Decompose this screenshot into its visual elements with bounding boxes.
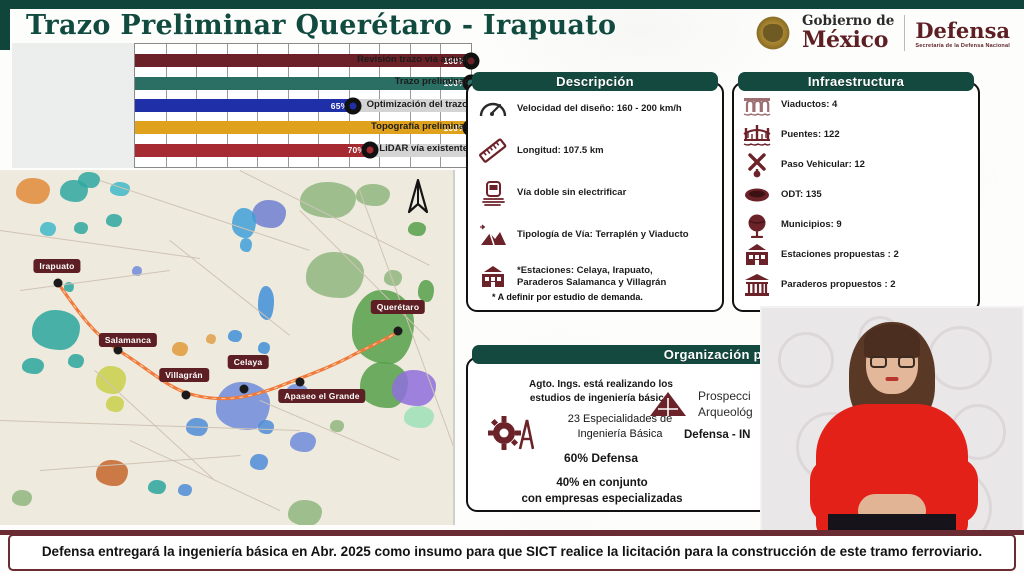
globe-icon bbox=[742, 212, 772, 238]
map-city-label[interactable]: Celaya bbox=[228, 355, 269, 369]
defensa-title: Defensa bbox=[915, 18, 1010, 43]
embankment-icon bbox=[478, 222, 508, 248]
chart-bar[interactable]: 70% bbox=[135, 144, 370, 157]
brand-line2: México bbox=[802, 29, 894, 51]
info-item: *Estaciones: Celaya, Irapuato,Paraderos … bbox=[478, 264, 718, 290]
bottom-banner-text: Defensa entregará la ingeniería básica e… bbox=[32, 544, 992, 561]
gobierno-mexico-logo: Gobierno de México Defensa Secretaría de… bbox=[754, 10, 1010, 56]
interpreter-glasses-left bbox=[870, 356, 887, 368]
compass-north-icon bbox=[405, 178, 431, 218]
map-city-dot bbox=[296, 378, 305, 387]
chart-label-column bbox=[12, 43, 134, 168]
map-city-label[interactable]: Apaseo el Grande bbox=[278, 389, 365, 403]
top-green-strip bbox=[0, 0, 1024, 9]
info-item: Municipios: 9 bbox=[742, 212, 974, 238]
route-map[interactable]: IrapuatoSalamancaVillagránCelayaApaseo e… bbox=[0, 170, 455, 525]
chart-category-label: Optimización del trazo bbox=[350, 99, 468, 110]
info-item-label: Municipios: 9 bbox=[781, 219, 842, 231]
level-crossing-icon bbox=[742, 152, 772, 178]
interpreter-glasses-right bbox=[898, 356, 915, 368]
info-item-label: *Estaciones: Celaya, Irapuato,Paraderos … bbox=[517, 265, 666, 289]
ruler-icon bbox=[478, 138, 508, 164]
info-item-label: Vía doble sin electrificar bbox=[517, 187, 626, 199]
defensa-subtitle: Secretaría de la Defensa Nacional bbox=[915, 43, 1010, 49]
info-item-label: ODT: 135 bbox=[781, 189, 822, 201]
info-item: Puentes: 122 bbox=[742, 122, 974, 148]
map-city-label[interactable]: Salamanca bbox=[99, 333, 157, 347]
chart-category-label: Trazo preliminar bbox=[350, 76, 468, 87]
viaduct-icon bbox=[742, 92, 772, 118]
info-item: Viaductos: 4 bbox=[742, 92, 974, 118]
page-title: Trazo Preliminar Querétaro - Irapuato bbox=[26, 10, 616, 41]
info-item-label: Paso Vehicular: 12 bbox=[781, 159, 865, 171]
embankment-icon bbox=[478, 222, 508, 248]
bottom-banner: Defensa entregará la ingeniería básica e… bbox=[8, 534, 1016, 571]
descripcion-card-header: Descripción bbox=[472, 72, 718, 91]
info-item: Vía doble sin electrificar bbox=[478, 180, 718, 206]
sign-language-interpreter-video[interactable] bbox=[760, 306, 1024, 534]
organizacion-defensa-pct: 60% Defensa bbox=[486, 450, 716, 466]
speedometer-icon bbox=[478, 96, 508, 122]
info-item-label: Velocidad del diseño: 160 - 200 km/h bbox=[517, 103, 682, 115]
map-city-dot bbox=[182, 391, 191, 400]
organizacion-conjunto: 40% en conjuntocon empresas especializad… bbox=[470, 476, 734, 507]
mexico-eagle-seal-icon bbox=[754, 14, 792, 52]
chart-category-label: LiDAR vía existente bbox=[350, 143, 468, 154]
info-item-label: Puentes: 122 bbox=[781, 129, 840, 141]
map-city-dot bbox=[54, 279, 63, 288]
level-crossing-icon bbox=[742, 152, 772, 178]
map-city-label[interactable]: Querétaro bbox=[371, 300, 425, 314]
info-item: Tipología de Vía: Terraplén y Viaducto bbox=[478, 222, 718, 248]
station-building-icon bbox=[478, 264, 508, 290]
viaduct-icon bbox=[742, 92, 772, 118]
bridge-icon bbox=[742, 122, 772, 148]
info-item: Paso Vehicular: 12 bbox=[742, 152, 974, 178]
gear-compass-icon bbox=[488, 412, 534, 452]
speedometer-icon bbox=[478, 96, 508, 122]
info-item: Estaciones propuestas : 2 bbox=[742, 242, 974, 268]
map-city-dot bbox=[394, 327, 403, 336]
bus-stop-icon bbox=[742, 272, 772, 298]
interpreter-lips bbox=[886, 377, 899, 381]
info-item: Velocidad del diseño: 160 - 200 km/h bbox=[478, 96, 718, 122]
info-item-label: Tipología de Vía: Terraplén y Viaducto bbox=[517, 229, 689, 241]
infraestructura-card-header: Infraestructura bbox=[738, 72, 974, 91]
odt-icon bbox=[742, 182, 772, 208]
info-item-label: Viaductos: 4 bbox=[781, 99, 837, 111]
map-city-dot bbox=[240, 385, 249, 394]
odt-icon bbox=[742, 182, 772, 208]
ruler-icon bbox=[478, 138, 508, 164]
chart-bar[interactable]: 65% bbox=[135, 99, 353, 112]
left-green-strip bbox=[0, 0, 10, 50]
info-item: ODT: 135 bbox=[742, 182, 974, 208]
globe-icon bbox=[742, 212, 772, 238]
defensa-wordmark: Defensa Secretaría de la Defensa Naciona… bbox=[915, 18, 1010, 49]
bus-stop-icon bbox=[742, 272, 772, 298]
station-building-icon bbox=[742, 242, 772, 268]
map-city-label[interactable]: Villagrán bbox=[159, 368, 209, 382]
rail-corridor-line bbox=[0, 170, 455, 525]
interpreter-fringe bbox=[864, 324, 920, 358]
train-icon bbox=[478, 180, 508, 206]
bridge-icon bbox=[742, 122, 772, 148]
info-item-label: Paraderos propuestos : 2 bbox=[781, 279, 896, 291]
info-item: Longitud: 107.5 km bbox=[478, 138, 718, 164]
progress-chart: 100%100%65%100%70% Revisión trazo vía ac… bbox=[12, 43, 472, 168]
pyramid-icon bbox=[648, 390, 688, 418]
descripcion-footnote: * A definir por estudio de demanda. bbox=[492, 292, 643, 302]
presentation-slide: Trazo Preliminar Querétaro - Irapuato Go… bbox=[0, 0, 1024, 573]
station-building-icon bbox=[478, 264, 508, 290]
info-item-label: Estaciones propuestas : 2 bbox=[781, 249, 899, 261]
chart-category-label: Topografía preliminar bbox=[350, 121, 468, 132]
station-building-icon bbox=[742, 242, 772, 268]
chart-category-label: Revisión trazo vía actual bbox=[350, 54, 468, 65]
info-item: Paraderos propuestos : 2 bbox=[742, 272, 974, 298]
gobierno-wordmark: Gobierno de México bbox=[802, 15, 894, 51]
logo-divider bbox=[904, 15, 905, 51]
info-item-label: Longitud: 107.5 km bbox=[517, 145, 604, 157]
train-icon bbox=[478, 180, 508, 206]
map-city-label[interactable]: Irapuato bbox=[33, 259, 80, 273]
